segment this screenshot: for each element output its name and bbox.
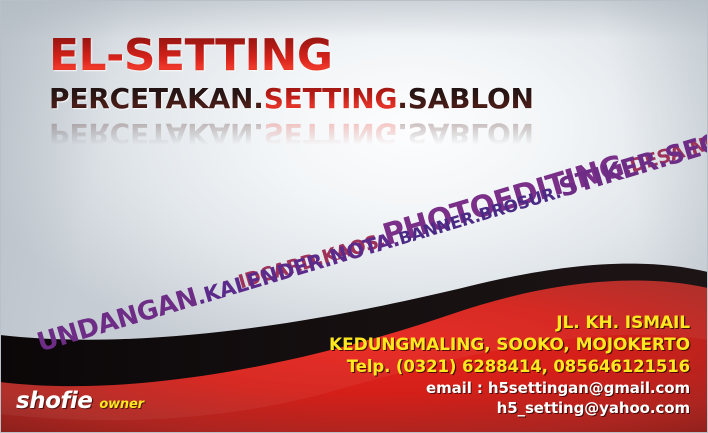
tagline: PERCETAKAN.SETTING.SABLON [49,83,609,114]
tagline-part-percetakan: PERCETAKAN. [49,82,264,115]
contact-email-secondary[interactable]: h5_setting@yahoo.com [329,398,690,418]
owner-block: shofie owner [16,388,144,414]
owner-name: shofie [16,388,92,414]
tagline-reflection: PERCETAKAN.SETTING.SABLON [49,118,609,149]
reflection-part-sablon: .SABLON [397,117,534,150]
tagline-part-setting: SETTING [264,82,398,115]
reflection-part-setting: SETTING [264,117,398,150]
headline-block: EL-SETTING PERCETAKAN.SETTING.SABLON [49,33,609,114]
owner-role: owner [99,397,143,412]
contact-email-primary[interactable]: email : h5settingan@gmail.com [329,378,690,398]
business-card: EL-SETTING PERCETAKAN.SETTING.SABLON PER… [0,0,708,433]
brand-title: EL-SETTING [49,33,609,79]
contact-phone[interactable]: Telp. (0321) 6288414, 085646121516 [329,356,690,378]
contact-area: KEDUNGMALING, SOOKO, MOJOKERTO [329,334,690,356]
tagline-part-sablon: .SABLON [397,82,534,115]
contact-block: JL. KH. ISMAIL KEDUNGMALING, SOOKO, MOJO… [329,312,690,418]
reflection-part-percetakan: PERCETAKAN. [49,117,264,150]
contact-street: JL. KH. ISMAIL [329,312,690,334]
